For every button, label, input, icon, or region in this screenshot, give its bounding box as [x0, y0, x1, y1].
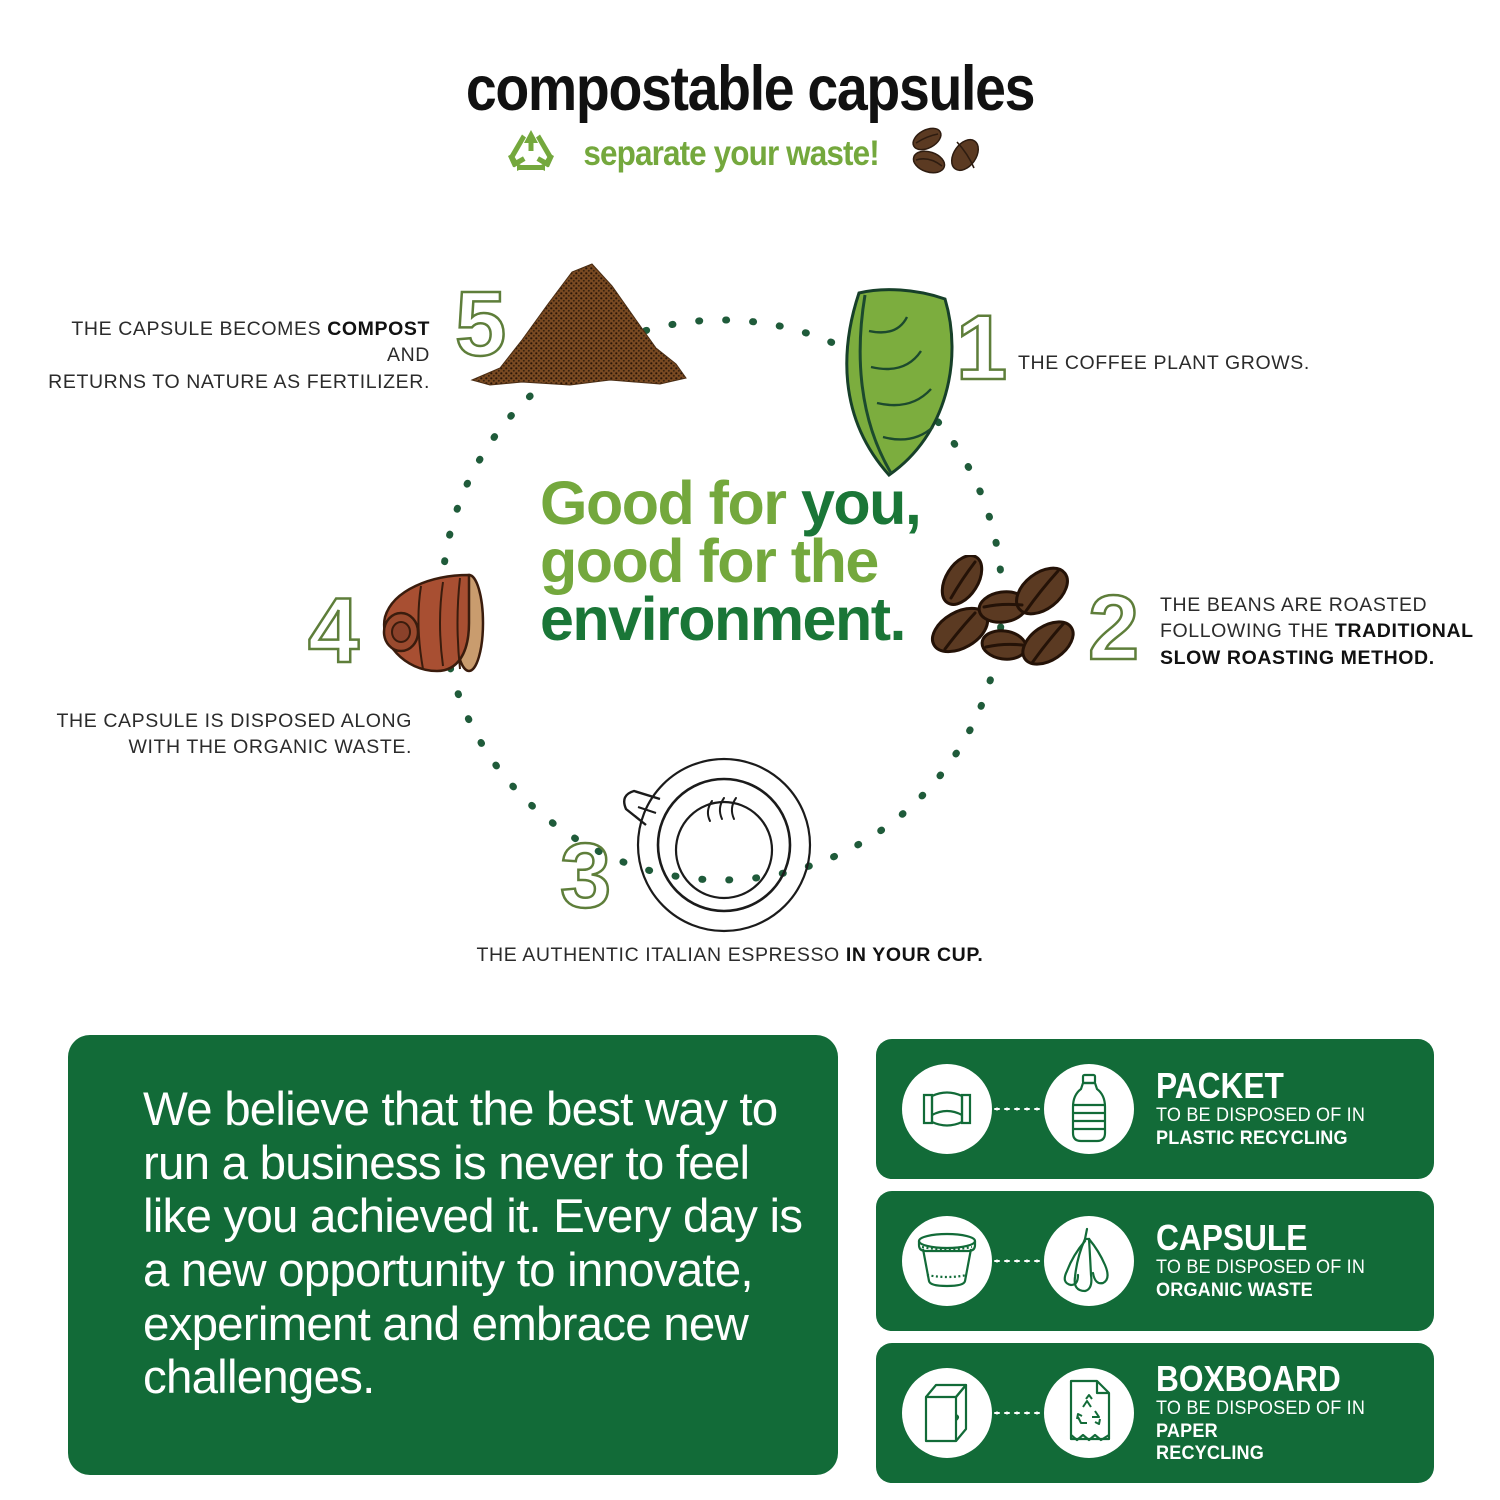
header-subtitle: separate your waste!	[583, 134, 878, 174]
connector-dotted-line	[992, 1107, 1044, 1111]
step-caption-1: THE COFFEE PLANT GROWS.	[1018, 350, 1418, 376]
step-number-3: 3	[560, 830, 611, 922]
coffee-capsule-icon	[365, 570, 495, 685]
coffee-capsule-icon	[902, 1216, 992, 1306]
bottom-section: We believe that the best way to run a bu…	[0, 1035, 1500, 1500]
boxboard-title: BOXBOARD	[1156, 1360, 1401, 1398]
banana-peel-icon	[1044, 1216, 1134, 1306]
capsule-desc: TO BE DISPOSED OF INORGANIC WASTE	[1156, 1257, 1365, 1303]
lifecycle-diagram: 5 THE CAPSULE BECOMES COMPOST ANDRETURNS…	[0, 230, 1500, 1020]
step-caption-2: THE BEANS ARE ROASTEDFOLLOWING THE TRADI…	[1160, 592, 1490, 671]
sachet-packet-icon	[902, 1064, 992, 1154]
step-caption-3: THE AUTHENTIC ITALIAN ESPRESSO IN YOUR C…	[380, 942, 1080, 968]
cardboard-box-icon	[902, 1368, 992, 1458]
capsule-icons	[902, 1216, 1134, 1306]
capsule-title: CAPSULE	[1156, 1219, 1350, 1257]
slogan-line3: environment.	[540, 585, 905, 653]
quote-text: We believe that the best way to run a bu…	[143, 1083, 803, 1405]
plastic-bottle-icon	[1044, 1064, 1134, 1154]
packet-icons	[902, 1064, 1134, 1154]
disposal-card-capsule[interactable]: CAPSULE TO BE DISPOSED OF INORGANIC WAST…	[876, 1191, 1434, 1331]
header-subtitle-row: separate your waste!	[0, 125, 1500, 182]
disposal-card-boxboard[interactable]: BOXBOARD TO BE DISPOSED OF IN PAPERRECYC…	[876, 1343, 1434, 1483]
page-title: compostable capsules	[90, 58, 1410, 121]
leaf-icon	[835, 285, 975, 490]
step-number-4: 4	[308, 585, 359, 677]
boxboard-icons	[902, 1368, 1134, 1458]
connector-dotted-line	[992, 1411, 1044, 1415]
compost-pile-icon	[460, 252, 700, 397]
recyclable-paper-icon	[1044, 1368, 1134, 1458]
coffee-beans-icon	[930, 555, 1100, 680]
boxboard-desc: TO BE DISPOSED OF IN PAPERRECYCLING	[1156, 1398, 1420, 1466]
recycle-icon	[505, 127, 557, 180]
espresso-cup-icon	[612, 755, 832, 940]
disposal-card-packet[interactable]: PACKET TO BE DISPOSED OF INPLASTIC RECYC…	[876, 1039, 1434, 1179]
connector-dotted-line	[992, 1259, 1044, 1263]
step-caption-5: THE CAPSULE BECOMES COMPOST ANDRETURNS T…	[30, 316, 430, 395]
step-number-1: 1	[956, 302, 1007, 394]
coffee-beans-icon	[905, 125, 995, 182]
packet-desc: TO BE DISPOSED OF INPLASTIC RECYCLING	[1156, 1105, 1365, 1151]
packet-text: PACKET TO BE DISPOSED OF INPLASTIC RECYC…	[1156, 1067, 1376, 1150]
step-number-2: 2	[1088, 582, 1139, 674]
step-caption-4: THE CAPSULE IS DISPOSED ALONGWITH THE OR…	[40, 708, 412, 761]
boxboard-text: BOXBOARD TO BE DISPOSED OF IN PAPERRECYC…	[1156, 1360, 1434, 1466]
header-banner: compostable capsules separate your waste…	[0, 58, 1500, 182]
packet-title: PACKET	[1156, 1067, 1350, 1105]
slogan: Good for you, good for the environment.	[540, 475, 940, 649]
capsule-text: CAPSULE TO BE DISPOSED OF INORGANIC WAST…	[1156, 1219, 1376, 1302]
quote-card: We believe that the best way to run a bu…	[68, 1035, 838, 1475]
